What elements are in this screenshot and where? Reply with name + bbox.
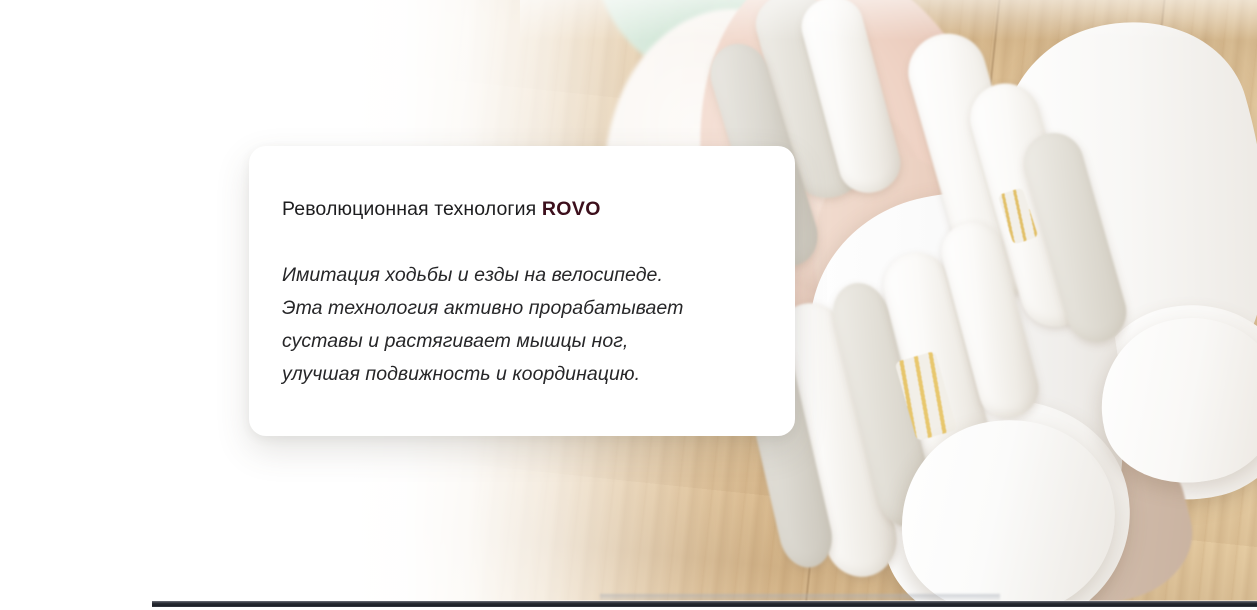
page-root: Революционная технология ROVO Имитация х… [0, 0, 1257, 610]
card-body: Имитация ходьбы и езды на велосипеде. Эт… [282, 259, 749, 391]
card-heading-prefix: Революционная технология [282, 198, 542, 220]
card-heading: Революционная технология ROVO [282, 198, 749, 221]
card-body-line-1: Имитация ходьбы и езды на велосипеде. [282, 259, 749, 292]
bottom-rail-highlight [152, 600, 1257, 601]
info-card: Революционная технология ROVO Имитация х… [249, 146, 795, 436]
card-body-line-4: улучшая подвижность и координацию. [282, 358, 749, 391]
bottom-rail [152, 601, 1257, 607]
card-body-line-3: суставы и растягивает мышцы ног, [282, 325, 749, 358]
card-body-line-2: Эта технология активно прорабатывает [282, 292, 749, 325]
brand-name-rovo: ROVO [542, 198, 601, 220]
